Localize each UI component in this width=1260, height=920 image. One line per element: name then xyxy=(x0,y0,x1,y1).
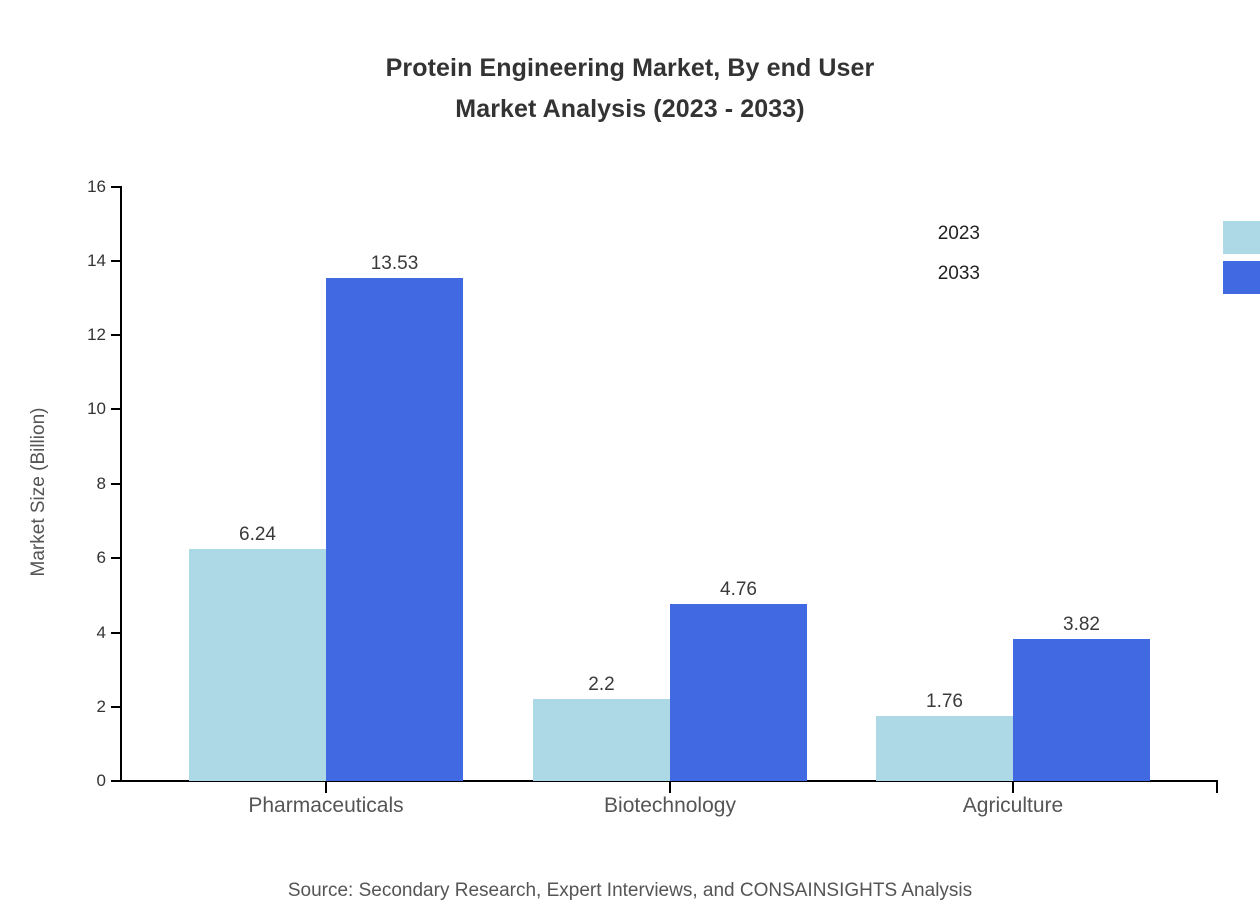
value-label-pharmaceuticals-2023: 6.24 xyxy=(189,525,326,544)
bar-chart: Protein Engineering Market, By end User … xyxy=(0,0,1260,920)
bar-pharmaceuticals-2033[interactable] xyxy=(326,278,463,781)
y-tick-6 xyxy=(111,557,120,559)
x-tick-axis-end xyxy=(1216,782,1218,793)
y-tick-4 xyxy=(111,632,120,634)
value-label-agriculture-2033: 3.82 xyxy=(1013,615,1150,634)
y-tick-8 xyxy=(111,483,120,485)
y-tick-10 xyxy=(111,408,120,410)
value-label-agriculture-2023: 1.76 xyxy=(876,692,1013,711)
plot-area: 6.24 13.53 2.2 4.76 1.76 3.82 xyxy=(122,186,1218,781)
legend-label-2023: 2023 xyxy=(938,224,980,243)
bar-pharmaceuticals-2023[interactable] xyxy=(189,549,326,781)
x-tick-biotechnology xyxy=(669,782,671,793)
y-tick-label-16: 16 xyxy=(46,178,106,195)
y-tick-label-10: 10 xyxy=(46,400,106,417)
y-tick-12 xyxy=(111,334,120,336)
x-category-label-agriculture: Agriculture xyxy=(863,793,1163,818)
y-tick-label-6: 6 xyxy=(46,549,106,566)
y-tick-2 xyxy=(111,706,120,708)
x-category-label-pharmaceuticals: Pharmaceuticals xyxy=(176,793,476,818)
y-tick-label-14: 14 xyxy=(46,252,106,269)
y-tick-label-2: 2 xyxy=(46,698,106,715)
y-tick-16 xyxy=(111,186,120,188)
value-label-pharmaceuticals-2033: 13.53 xyxy=(326,254,463,273)
legend-swatch-2033 xyxy=(1223,261,1260,294)
y-tick-0 xyxy=(111,780,120,782)
source-note: Source: Secondary Research, Expert Inter… xyxy=(0,879,1260,903)
y-tick-label-8: 8 xyxy=(46,475,106,492)
legend-swatch-2023 xyxy=(1223,221,1260,254)
bar-agriculture-2033[interactable] xyxy=(1013,639,1150,781)
bar-biotechnology-2033[interactable] xyxy=(670,604,807,781)
value-label-biotechnology-2033: 4.76 xyxy=(670,580,807,599)
x-tick-pharmaceuticals xyxy=(325,782,327,793)
x-category-label-biotechnology: Biotechnology xyxy=(520,793,820,818)
y-axis-title: Market Size (Billion) xyxy=(28,282,50,702)
y-tick-label-12: 12 xyxy=(46,326,106,343)
legend-label-2033: 2033 xyxy=(938,264,980,283)
y-tick-label-0: 0 xyxy=(46,772,106,789)
chart-title: Protein Engineering Market, By end User … xyxy=(0,48,1260,130)
bar-agriculture-2023[interactable] xyxy=(876,716,1013,781)
y-tick-14 xyxy=(111,260,120,262)
x-tick-agriculture xyxy=(1012,782,1014,793)
y-tick-label-4: 4 xyxy=(46,624,106,641)
bar-biotechnology-2023[interactable] xyxy=(533,699,670,781)
chart-title-line-2: Market Analysis (2023 - 2033) xyxy=(0,89,1260,130)
chart-title-line-1: Protein Engineering Market, By end User xyxy=(0,48,1260,89)
value-label-biotechnology-2023: 2.2 xyxy=(533,675,670,694)
